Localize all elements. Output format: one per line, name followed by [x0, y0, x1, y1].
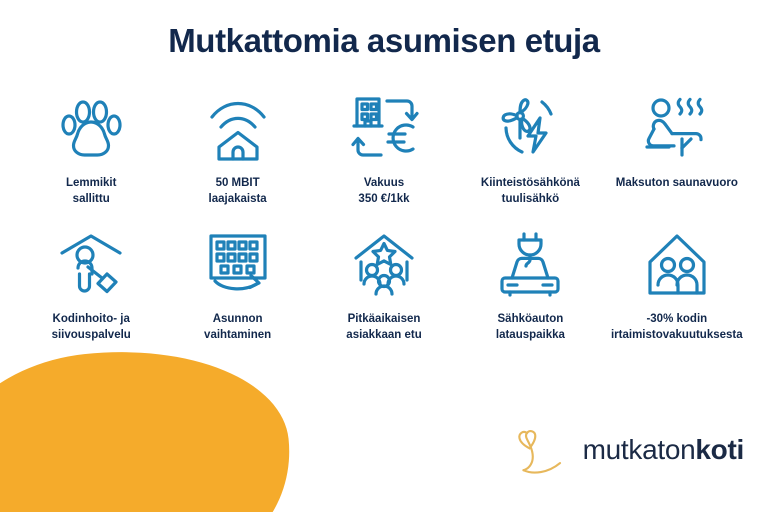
benefit-item[interactable]: Kiinteistösähkönä tuulisähkö — [457, 88, 603, 208]
wind-turbine-bolt-icon — [491, 88, 569, 168]
paw-print-icon — [52, 88, 130, 168]
apartment-swap-arrow-icon — [199, 224, 277, 304]
benefit-label: -30% kodin irtaimistovakuutuksesta — [611, 312, 743, 344]
logo-text-light: mutkaton — [583, 434, 696, 465]
electric-car-plug-icon — [491, 224, 569, 304]
infographic-page: Mutkattomia asumisen etuja Lemmikit sall… — [0, 0, 768, 512]
benefit-label: Lemmikit sallittu — [66, 176, 117, 208]
benefits-row-2: Kodinhoito- ja siivouspalvelu — [18, 224, 750, 344]
benefit-item[interactable]: Lemmikit sallittu — [18, 88, 164, 208]
benefit-item[interactable]: Asunnon vaihtaminen — [164, 224, 310, 344]
house-two-people-icon — [638, 224, 716, 304]
logo-wordmark: mutkatonkoti — [583, 434, 744, 466]
benefits-row-1: Lemmikit sallittu 50 MBIT laajakaista — [18, 88, 750, 208]
brand-logo[interactable]: mutkatonkoti — [515, 424, 744, 476]
logo-text-bold: koti — [695, 434, 744, 465]
benefit-item[interactable]: 50 MBIT laajakaista — [164, 88, 310, 208]
benefit-label: Asunnon vaihtaminen — [204, 312, 271, 344]
benefit-label: 50 MBIT laajakaista — [209, 176, 267, 208]
benefits-grid: Lemmikit sallittu 50 MBIT laajakaista — [18, 88, 750, 343]
benefit-label: Sähköauton latauspaikka — [496, 312, 565, 344]
benefit-item[interactable]: -30% kodin irtaimistovakuutuksesta — [604, 224, 750, 344]
house-star-people-icon — [345, 224, 423, 304]
benefit-label: Vakuus 350 €/1kk — [358, 176, 409, 208]
sauna-person-steam-icon — [638, 88, 716, 168]
benefit-label: Maksuton saunavuoro — [616, 176, 738, 192]
benefit-item[interactable]: Vakuus 350 €/1kk — [311, 88, 457, 208]
heart-swirl-icon — [515, 424, 575, 476]
benefit-item[interactable]: Sähköauton latauspaikka — [457, 224, 603, 344]
benefit-label: Kiinteistösähkönä tuulisähkö — [481, 176, 580, 208]
page-title: Mutkattomia asumisen etuja — [0, 22, 768, 60]
decorative-blob — [0, 334, 301, 512]
benefit-label: Kodinhoito- ja siivouspalvelu — [52, 312, 131, 344]
benefit-item[interactable]: Pitkäaikaisen asiakkaan etu — [311, 224, 457, 344]
house-cleaning-person-icon — [52, 224, 130, 304]
wifi-house-icon — [199, 88, 277, 168]
benefit-item[interactable]: Kodinhoito- ja siivouspalvelu — [18, 224, 164, 344]
benefit-item[interactable]: Maksuton saunavuoro — [604, 88, 750, 192]
benefit-label: Pitkäaikaisen asiakkaan etu — [346, 312, 421, 344]
building-euro-exchange-icon — [345, 88, 423, 168]
